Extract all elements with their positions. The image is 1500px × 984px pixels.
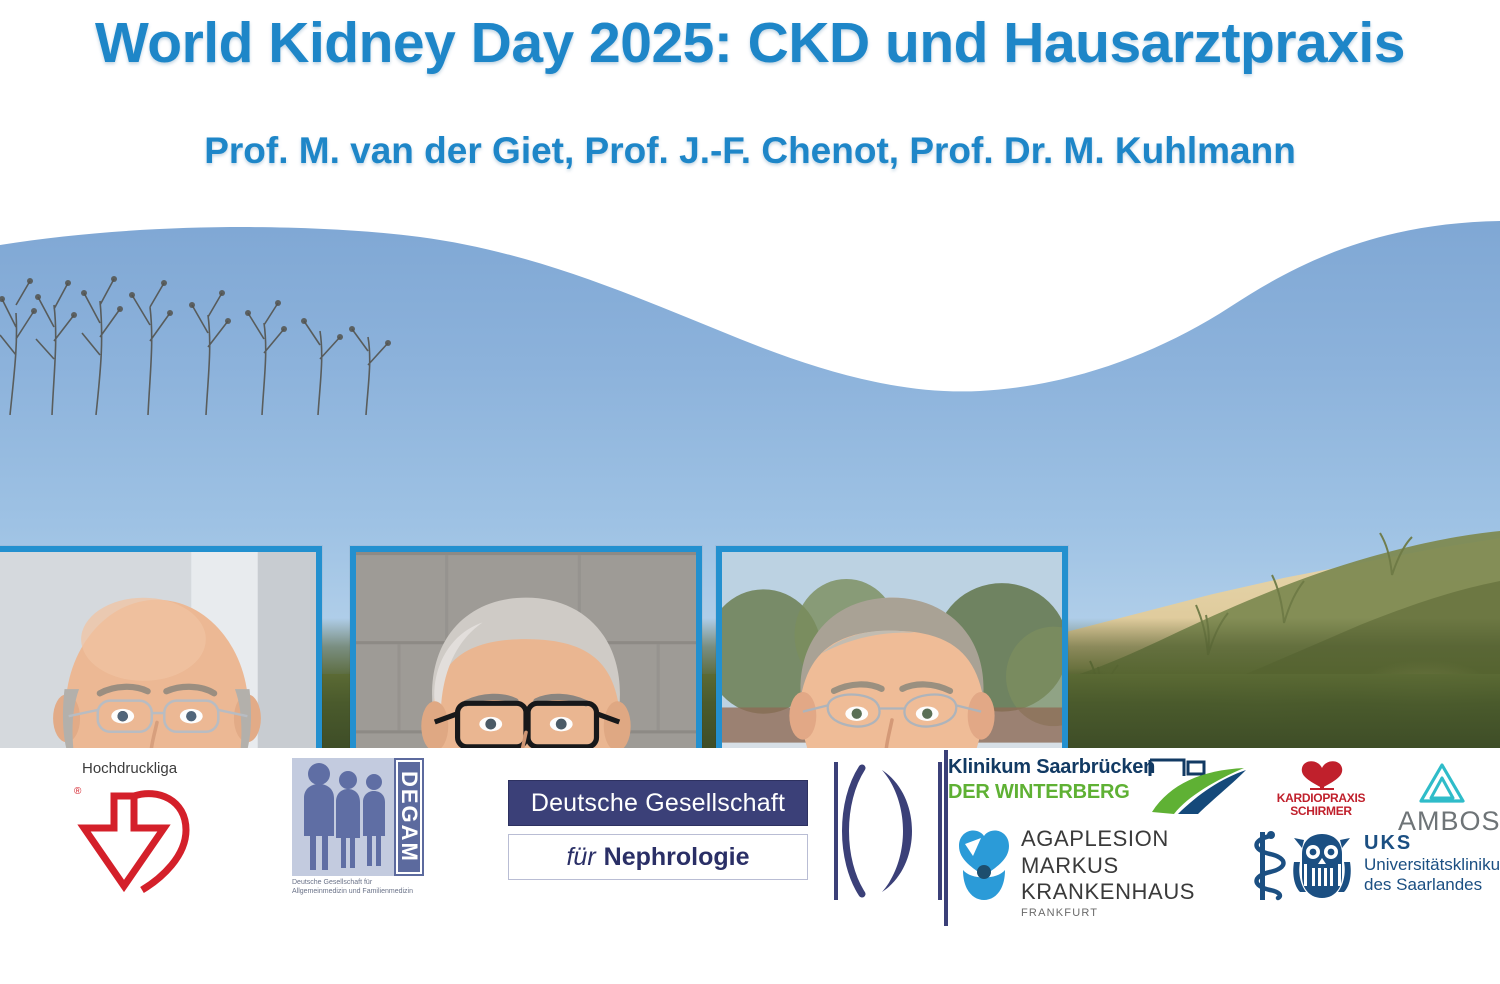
logo-kardiopraxis-schirmer: KARDIOPRAXIS SCHIRMER [1266,756,1376,830]
speaker-photo-3 [716,546,1068,748]
logo-degam: DEGAM Deutsche Gesellschaft für Allgemei… [292,758,424,906]
portrait-speaker-2-image [356,552,696,748]
logo-dgfn: Deutsche Gesellschaft fürNephrologie [508,780,808,882]
hero-photo-band: De Panne, West-Vlaanderen, België [0,215,1500,748]
wave-mask-shape [0,215,1500,395]
asclepius-staff-icon [1240,830,1286,902]
agaplesion-line3: FRANKFURT [1021,907,1275,919]
page-title: World Kidney Day 2025: CKD und Hausarztp… [0,10,1500,76]
owl-icon [1292,830,1352,902]
logo-divider [944,750,948,926]
agaplesion-line2: MARKUS KRANKENHAUS [1021,853,1275,905]
uks-line2: des Saarlandes [1364,875,1500,895]
logo-uks: UKS Universitätsklinikum des Saarlandes [1240,828,1490,908]
degam-acronym: DEGAM [396,760,422,874]
hochdruckliga-wordmark: Hochdruckliga [82,760,177,777]
agaplesion-heart-person-icon [955,828,1013,902]
portrait-speaker-3-image [722,552,1062,748]
speaker-photo-1 [0,546,322,748]
dgfn-line2: fürNephrologie [508,834,808,880]
portrait-speaker-1-image [0,552,316,748]
logo-hochdruckliga: Hochdruckliga ® [60,760,240,900]
dgfn-line2-bold: Nephrologie [604,843,750,872]
hochdruckliga-heart-arrow-icon [62,786,242,898]
amboss-triangle-icon [1418,762,1466,804]
logo-bracket-mark [818,760,946,902]
uks-acronym: UKS [1364,832,1500,855]
dgfn-line2-italic: für [566,843,595,872]
bracket-kidney-icon [818,760,946,902]
winterberg-hill-icon [1144,756,1254,816]
degam-subtitle-line1: Deutsche Gesellschaft für [292,878,424,887]
logo-agaplesion: AGAPLESION MARKUS KRANKENHAUS FRANKFURT [955,826,1275,904]
dgfn-line1: Deutsche Gesellschaft [508,780,808,826]
logo-klinikum-saarbruecken: Klinikum Saarbrücken DER WINTERBERG [948,756,1248,822]
presentation-slide: World Kidney Day 2025: CKD und Hausarztp… [0,0,1500,984]
degam-panel: DEGAM [292,758,424,876]
degam-subtitle: Deutsche Gesellschaft für Allgemeinmediz… [292,878,424,896]
sponsor-logo-strip: Hochdruckliga ® [0,748,1500,984]
degam-family-figures-icon [292,758,394,876]
kardiopraxis-line2: SCHIRMER [1266,805,1376,818]
speaker-photo-2 [350,546,702,748]
logo-amboss: AMBOSS [1398,762,1500,834]
kardiopraxis-heart-icon [1296,756,1348,790]
uks-line1: Universitätsklinikum [1364,855,1500,875]
agaplesion-line1: AGAPLESION [1021,826,1275,852]
degam-subtitle-line2: Allgemeinmedizin und Familienmedizin [292,887,424,896]
speaker-list-subtitle: Prof. M. van der Giet, Prof. J.-F. Cheno… [0,130,1500,172]
